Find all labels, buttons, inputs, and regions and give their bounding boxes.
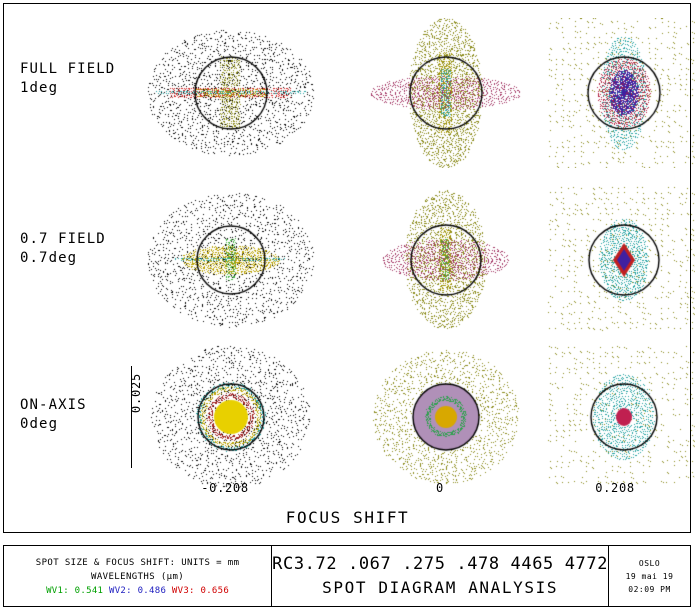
spot-cell-r0c2 (539, 18, 695, 168)
spot-cell-r2c2 (539, 342, 695, 492)
row-title: 0.7 FIELD (20, 231, 106, 247)
spot-cell-r2c0 (146, 342, 316, 492)
lens-code: RC3.72 .067 .275 .478 4465 4772 (272, 553, 608, 576)
spot-pattern-canvas (361, 185, 531, 335)
wavelength-legend: WV1: 0.541 WV2: 0.486 WV3: 0.656 (46, 584, 229, 598)
spot-cell-r1c1 (361, 185, 531, 335)
row-title: ON-AXIS (20, 397, 87, 413)
scale-bar-label: 0.025 (129, 363, 143, 423)
spot-pattern-canvas (146, 18, 316, 168)
plot-frame: FULL FIELD 1deg 0.7 FIELD 0.7deg ON-AXIS… (3, 3, 691, 533)
spot-cell-r2c1 (361, 342, 531, 492)
x-tick-right: 0.208 (560, 481, 670, 495)
x-tick-left: -0.208 (170, 481, 280, 495)
wv3-value: 0.656 (200, 586, 229, 596)
time-text: 02:09 PM (628, 583, 671, 596)
app-name: OSLO (639, 557, 660, 570)
x-axis-title: FOCUS SHIFT (0, 508, 695, 527)
spot-cell-r1c0 (146, 185, 316, 335)
footer-frame: SPOT SIZE & FOCUS SHIFT: UNITS = mm WAVE… (3, 545, 691, 607)
date-text: 19 mai 19 (626, 570, 674, 583)
wavelengths-line: WAVELENGTHS (µm) (91, 570, 184, 584)
wv2-label: WV2: (109, 586, 132, 596)
spot-pattern-canvas (361, 18, 531, 168)
spot-pattern-canvas (539, 342, 695, 492)
spot-pattern-canvas (361, 342, 531, 492)
units-line: SPOT SIZE & FOCUS SHIFT: UNITS = mm (36, 556, 240, 570)
footer-center-panel: RC3.72 .067 .275 .478 4465 4772 SPOT DIA… (272, 546, 609, 606)
footer-left-panel: SPOT SIZE & FOCUS SHIFT: UNITS = mm WAVE… (4, 546, 272, 606)
row-angle: 0deg (20, 415, 87, 434)
footer-right-panel: OSLO 19 mai 19 02:09 PM (609, 546, 690, 606)
spot-pattern-canvas (539, 185, 695, 335)
wv2-value: 0.486 (138, 586, 167, 596)
analysis-title: SPOT DIAGRAM ANALYSIS (322, 576, 558, 599)
spot-pattern-canvas (146, 185, 316, 335)
spot-cell-r1c2 (539, 185, 695, 335)
row-label-07-field: 0.7 FIELD 0.7deg (20, 230, 106, 268)
wv1-value: 0.541 (75, 586, 104, 596)
row-angle: 1deg (20, 79, 115, 98)
wv1-label: WV1: (46, 586, 69, 596)
spot-pattern-canvas (539, 18, 695, 168)
x-tick-center: 0 (385, 481, 495, 495)
row-label-on-axis: ON-AXIS 0deg (20, 396, 87, 434)
row-angle: 0.7deg (20, 249, 106, 268)
row-title: FULL FIELD (20, 61, 115, 77)
row-label-full-field: FULL FIELD 1deg (20, 60, 115, 98)
spot-pattern-canvas (146, 342, 316, 492)
wv3-label: WV3: (172, 586, 195, 596)
spot-cell-r0c1 (361, 18, 531, 168)
spot-cell-r0c0 (146, 18, 316, 168)
